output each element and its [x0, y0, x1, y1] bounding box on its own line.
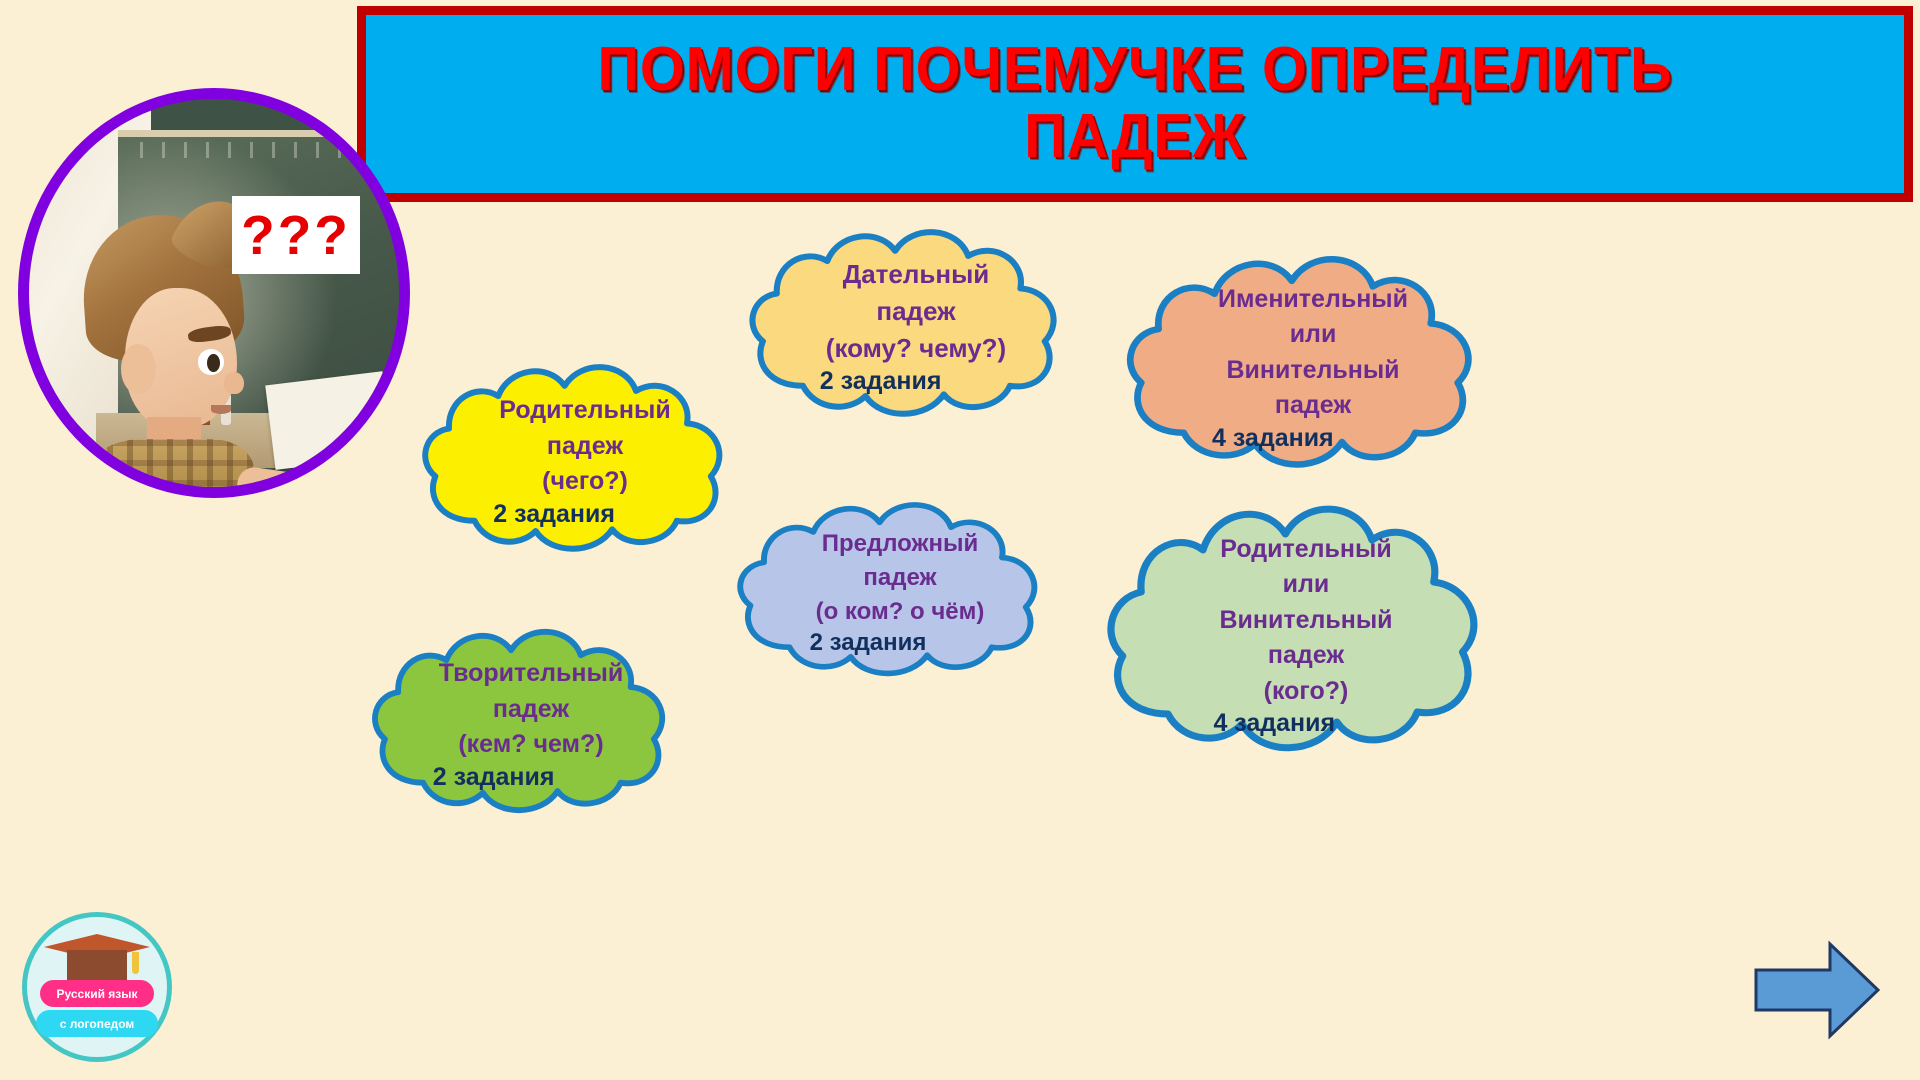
- cloud-genitive-or-accusative-count: 4 задания: [1213, 709, 1398, 738]
- chalk-marks: [140, 142, 344, 158]
- logo: Русский язык с логопедом: [22, 912, 172, 1062]
- question-marks-text: ???: [241, 208, 351, 263]
- title-banner: ПОМОГИ ПОЧЕМУЧКЕ ОПРЕДЕЛИТЬ ПАДЕЖ: [357, 6, 1913, 202]
- cloud-prepositional[interactable]: Предложный падеж (о ком? о чём) 2 задани…: [730, 492, 1070, 692]
- cloud-dative-count: 2 задания: [820, 367, 1012, 396]
- cloud-genitive-or-accusative-label: Родительный или Винительный падеж (кого?…: [1213, 532, 1398, 710]
- plaid-shirt: [87, 439, 254, 498]
- boy-at-chalkboard-image: [18, 88, 410, 498]
- cloud-genitive-label: Родительный падеж (чего?): [493, 393, 676, 500]
- mouth: [211, 405, 230, 413]
- graduation-cap-base-icon: [67, 950, 127, 984]
- logo-band-top: Русский язык: [40, 980, 154, 1007]
- cloud-nominative-or-accusative-label: Именительный или Винительный падеж: [1212, 282, 1414, 424]
- pupil: [207, 354, 220, 372]
- ear: [121, 344, 155, 394]
- cloud-genitive[interactable]: Родительный падеж (чего?) 2 задания: [415, 350, 755, 572]
- cloud-instrumental-count: 2 задания: [433, 763, 630, 792]
- logo-line1: Русский язык: [56, 987, 137, 1001]
- cloud-genitive-count: 2 задания: [493, 500, 676, 529]
- classroom-scene: [29, 99, 399, 487]
- cloud-genitive-or-accusative[interactable]: Родительный или Винительный падеж (кого?…: [1100, 490, 1512, 780]
- cloud-prepositional-label: Предложный падеж (о ком? о чём): [810, 527, 991, 629]
- cloud-dative-label: Дательный падеж (кому? чему?): [820, 256, 1012, 367]
- arrow-right-icon[interactable]: [1752, 940, 1882, 1040]
- cloud-nominative-or-accusative-count: 4 задания: [1212, 424, 1414, 453]
- cloud-instrumental[interactable]: Творительный падеж (кем? чем?) 2 задания: [365, 615, 697, 833]
- next-slide-button[interactable]: [1752, 940, 1882, 1040]
- nose: [224, 372, 243, 394]
- question-marks-box: ???: [232, 196, 360, 274]
- logo-band-bottom: с логопедом: [36, 1010, 158, 1037]
- cloud-prepositional-count: 2 задания: [810, 629, 991, 657]
- tassel-icon: [132, 952, 139, 974]
- cloud-nominative-or-accusative[interactable]: Именительный или Винительный падеж 4 зад…: [1120, 242, 1506, 492]
- cloud-dative[interactable]: Дательный падеж (кому? чему?) 2 задания: [742, 215, 1090, 437]
- page-title: ПОМОГИ ПОЧЕМУЧКЕ ОПРЕДЕЛИТЬ ПАДЕЖ: [588, 37, 1682, 171]
- logo-line2: с логопедом: [60, 1017, 135, 1031]
- cloud-instrumental-label: Творительный падеж (кем? чем?): [433, 656, 630, 763]
- arm: [235, 466, 337, 498]
